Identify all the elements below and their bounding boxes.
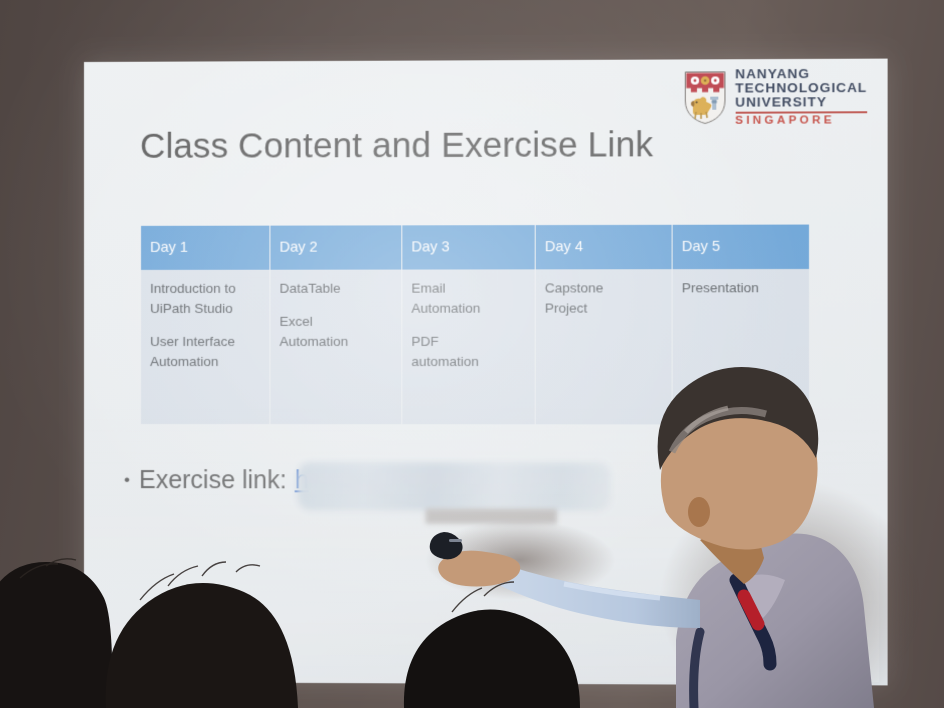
cell-day-1: Introduction to UiPath Studio User Inter… xyxy=(141,270,270,424)
table-header-row: Day 1 Day 2 Day 3 Day 4 Day 5 xyxy=(141,225,809,270)
class-schedule-table: Day 1 Day 2 Day 3 Day 4 Day 5 Introducti… xyxy=(141,225,809,425)
ntu-logo-text: NANYANG TECHNOLOGICAL UNIVERSITY SINGAPO… xyxy=(735,67,867,128)
cell-day-3-line-2: Automation xyxy=(411,299,526,319)
cell-spacer xyxy=(411,319,526,332)
cell-day-2-line-1: DataTable xyxy=(279,279,393,299)
redacted-url-blur xyxy=(298,462,611,511)
cell-day-4: Capstone Project xyxy=(536,269,673,424)
redacted-url-blur-secondary xyxy=(426,509,557,524)
exercise-link-label: Exercise link: xyxy=(139,466,287,495)
cell-day-2-line-2: Excel xyxy=(279,312,393,332)
cell-day-5-line-1: Presentation xyxy=(682,278,801,298)
cell-day-3-line-4: automation xyxy=(411,352,526,372)
slide: NANYANG TECHNOLOGICAL UNIVERSITY SINGAPO… xyxy=(84,59,888,686)
cell-spacer xyxy=(150,319,261,332)
cell-day-1-line-1: Introduction to xyxy=(150,279,261,299)
cell-day-3-line-1: Email xyxy=(411,278,526,298)
ntu-line-2: TECHNOLOGICAL xyxy=(735,81,867,95)
table-row: Introduction to UiPath Studio User Inter… xyxy=(141,269,809,425)
column-header-day-1: Day 1 xyxy=(141,226,270,270)
cell-spacer xyxy=(279,299,393,312)
cell-day-1-line-4: Automation xyxy=(150,352,261,372)
projection-screen: NANYANG TECHNOLOGICAL UNIVERSITY SINGAPO… xyxy=(84,59,888,686)
cell-day-2-line-3: Automation xyxy=(279,332,393,352)
exercise-link-bullet: • Exercise link: h xyxy=(124,466,309,495)
cell-day-2: DataTable Excel Automation xyxy=(270,270,402,425)
cell-day-4-line-1: Capstone xyxy=(545,278,664,298)
ntu-line-3: UNIVERSITY xyxy=(735,95,867,109)
column-header-day-4: Day 4 xyxy=(536,225,673,270)
column-header-day-3: Day 3 xyxy=(402,225,535,269)
ntu-subtitle: SINGAPORE xyxy=(735,115,867,127)
ntu-logo: NANYANG TECHNOLOGICAL UNIVERSITY SINGAPO… xyxy=(683,67,867,128)
bullet-marker-icon: • xyxy=(124,470,130,490)
ntu-crest-icon xyxy=(683,70,726,125)
column-header-day-2: Day 2 xyxy=(270,225,402,269)
cell-day-3-line-3: PDF xyxy=(411,332,526,352)
cell-day-4-line-2: Project xyxy=(545,298,664,318)
cell-day-5: Presentation xyxy=(673,269,809,425)
ntu-logo-rule xyxy=(735,112,867,114)
cell-day-3: Email Automation PDF automation xyxy=(402,269,535,424)
cell-day-1-line-2: UiPath Studio xyxy=(150,299,261,319)
cell-day-1-line-3: User Interface xyxy=(150,332,261,352)
slide-title: Class Content and Exercise Link xyxy=(140,125,653,167)
column-header-day-5: Day 5 xyxy=(673,225,809,270)
